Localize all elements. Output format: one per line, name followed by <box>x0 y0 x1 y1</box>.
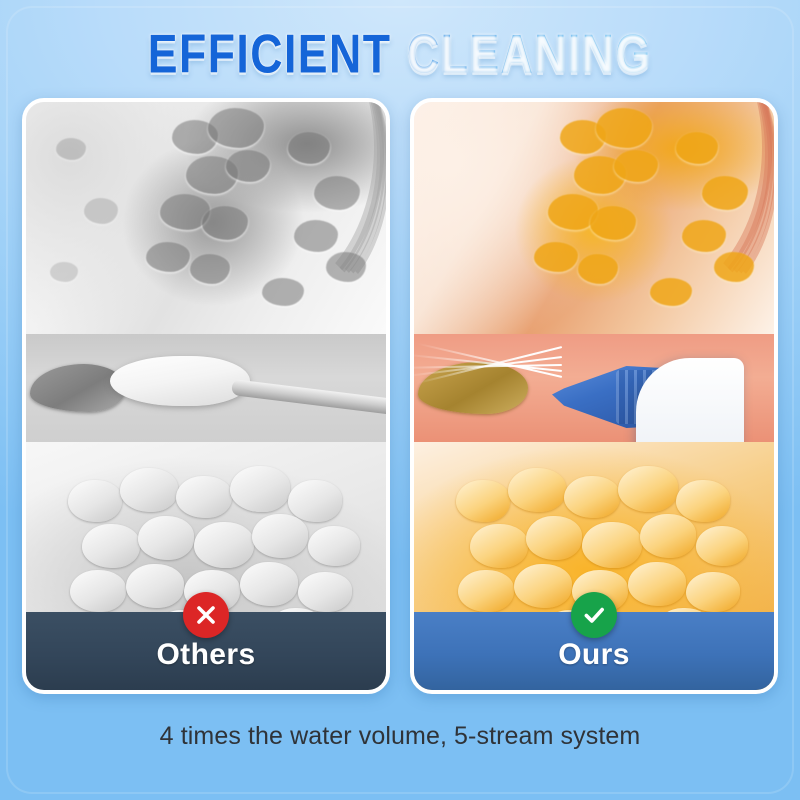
check-icon <box>581 602 607 628</box>
cotton-swab-stick <box>231 379 386 416</box>
ear-canal-upper-grayscale <box>26 102 386 334</box>
title-word-efficient: EFFICIENT <box>148 23 392 84</box>
comparison-panel-others: Others <box>22 98 390 694</box>
caption-text: 4 times the water volume, 5-stream syste… <box>0 722 800 751</box>
title-word-cleaning: CLEANING <box>407 23 652 84</box>
ear-canal-upper-color <box>414 102 774 334</box>
close-icon <box>194 603 218 627</box>
comparison-panel-ours: Ours <box>410 98 778 694</box>
status-badge-cross <box>183 592 229 638</box>
label-ours: Ours <box>558 638 630 672</box>
product-comparison-poster: EFFICIENTCLEANING <box>0 0 800 800</box>
ear-canal-middle-color <box>414 334 774 442</box>
status-badge-check <box>571 592 617 638</box>
cotton-swab-head-icon <box>110 356 250 406</box>
comparison-panels: Others <box>22 98 778 694</box>
title-container: EFFICIENTCLEANING <box>0 22 800 76</box>
page-title: EFFICIENTCLEANING <box>148 22 652 86</box>
label-others: Others <box>156 638 255 672</box>
water-jet-nozzle <box>552 352 710 436</box>
ear-canal-middle-grayscale <box>26 334 386 442</box>
impacted-earwax-lump <box>30 364 126 412</box>
